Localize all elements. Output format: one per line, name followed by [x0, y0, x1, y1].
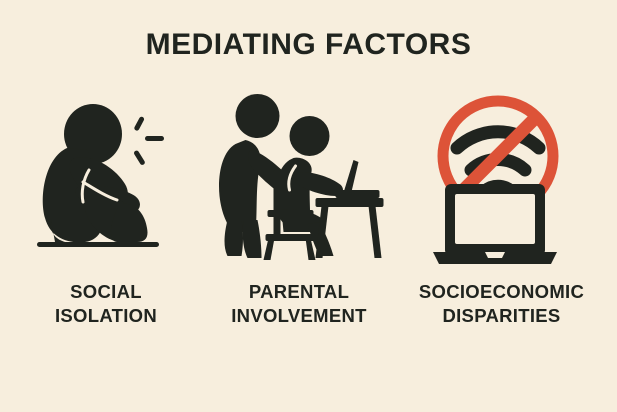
laptop-icon — [433, 184, 557, 264]
icon-container-socioeconomic-disparities — [398, 92, 605, 264]
person-sitting-alone-icon — [31, 92, 181, 252]
factor-label-social-isolation: SOCIAL ISOLATION — [12, 280, 200, 328]
factor-card-socioeconomic-disparities: SOCIOECONOMIC DISPARITIES — [398, 92, 605, 342]
icon-container-social-isolation — [12, 92, 200, 264]
infographic-canvas: MEDIATING FACTORS — [0, 0, 617, 412]
factor-label-line-1: SOCIOECONOMIC — [398, 280, 605, 304]
factor-label-line-1: SOCIAL — [12, 280, 200, 304]
factor-label-line-2: ISOLATION — [12, 304, 200, 328]
page-title: MEDIATING FACTORS — [0, 28, 617, 62]
factor-label-parental-involvement: PARENTAL INVOLVEMENT — [204, 280, 394, 328]
factor-label-line-1: PARENTAL — [204, 280, 394, 304]
factor-label-line-2: DISPARITIES — [398, 304, 605, 328]
adult-head — [236, 94, 280, 138]
factor-card-social-isolation: SOCIAL ISOLATION — [12, 92, 200, 342]
factor-label-socioeconomic-disparities: SOCIOECONOMIC DISPARITIES — [398, 280, 605, 328]
parent-helping-child-at-laptop-icon — [212, 92, 387, 262]
factor-label-line-2: INVOLVEMENT — [204, 304, 394, 328]
factor-card-parental-involvement: PARENTAL INVOLVEMENT — [204, 92, 394, 342]
no-wifi-laptop-icon — [427, 92, 577, 264]
child-head — [290, 116, 330, 156]
icon-container-parental-involvement — [204, 92, 394, 264]
